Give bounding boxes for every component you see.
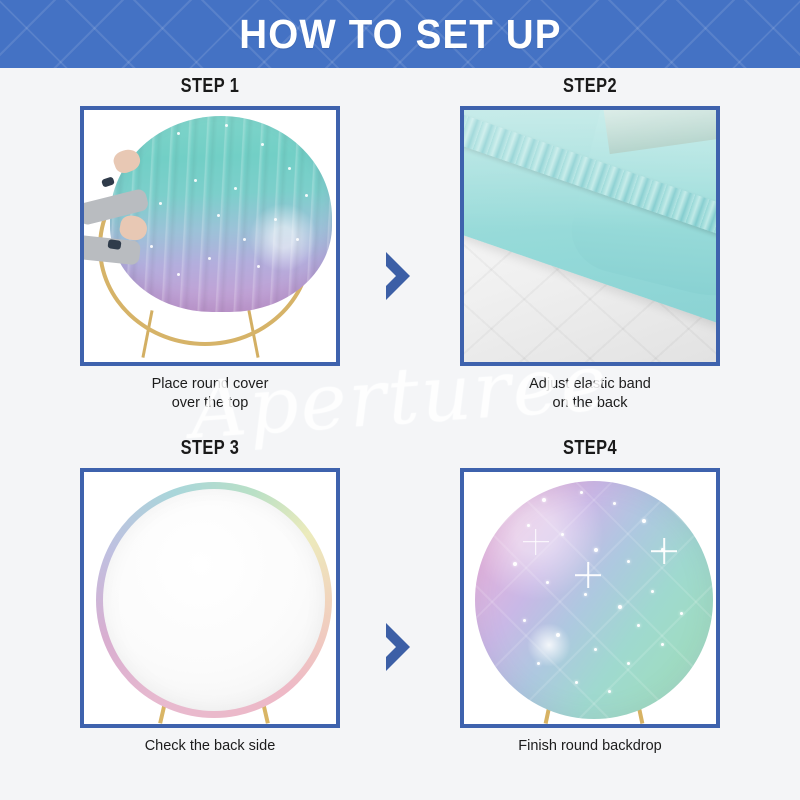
step-caption-1-line1: Place round cover [40, 375, 380, 394]
photo3-cover-back-face [103, 489, 325, 711]
photo4-sparkle-a [575, 562, 601, 588]
photo4-sparkle-b [651, 538, 677, 564]
page-title: HOW TO SET UP [239, 11, 561, 58]
step-caption-3-line1: Check the back side [40, 737, 380, 756]
step-caption-1-line2: over the top [40, 394, 380, 413]
photo4-finished-backdrop [475, 481, 713, 719]
photo2-scene [464, 110, 716, 362]
arrow-step3-to-step4 [380, 621, 420, 673]
photo2-light-sheen [464, 110, 716, 230]
step-caption-3: Check the back side [40, 737, 380, 756]
photo4-star-dots [475, 481, 713, 719]
step-caption-2-line1: Adjust elastic band [420, 375, 760, 394]
steps-grid: STEP 1 [0, 68, 800, 800]
step-card-3: STEP 3 Check the back side [40, 434, 380, 756]
photo1-wrist-band-lower [107, 239, 121, 250]
step-image-1 [80, 106, 340, 366]
step-label-4: STEP4 [451, 434, 730, 462]
photo3-scene [84, 472, 336, 724]
step-label-1: STEP 1 [71, 72, 350, 100]
step-caption-2: Adjust elastic band on the back [420, 375, 760, 413]
step-image-4 [460, 468, 720, 728]
header-banner: HOW TO SET UP [0, 0, 800, 68]
step-caption-4-line1: Finish round backdrop [420, 737, 760, 756]
step-image-3 [80, 468, 340, 728]
photo4-scene [464, 472, 716, 724]
step-image-2 [460, 106, 720, 366]
arrow-step1-to-step2 [380, 250, 420, 302]
step-caption-2-line2: on the back [420, 394, 760, 413]
step-card-4: STEP4 [420, 434, 760, 756]
step-caption-1: Place round cover over the top [40, 375, 380, 413]
photo1-star-dots [110, 116, 332, 312]
step-caption-4: Finish round backdrop [420, 737, 760, 756]
photo4-sparkle-c [523, 529, 549, 555]
step-label-3: STEP 3 [71, 434, 350, 462]
photo3-cover-back-rim [96, 482, 332, 718]
step-card-1: STEP 1 [40, 72, 380, 413]
step-label-2: STEP2 [451, 72, 730, 100]
photo1-gradient-cover [110, 116, 332, 312]
step-card-2: STEP2 Adjust elastic band on the back [420, 72, 760, 413]
